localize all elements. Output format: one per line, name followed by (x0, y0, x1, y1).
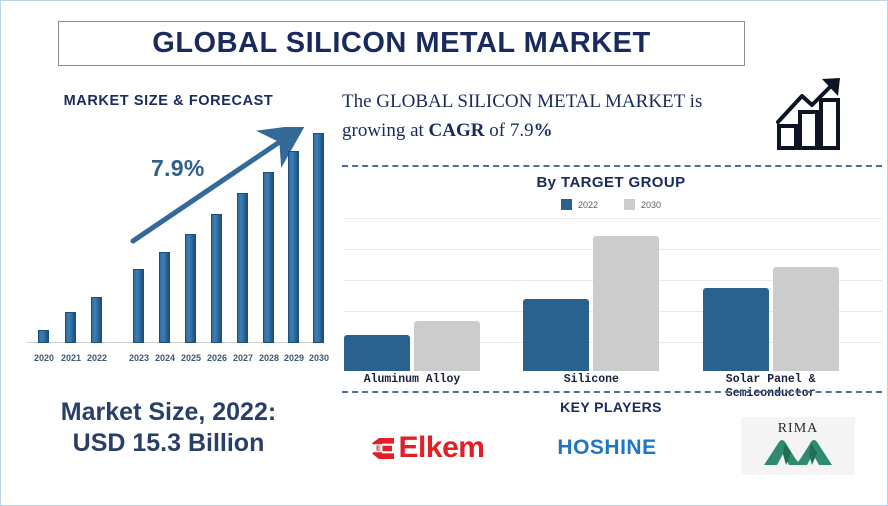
player-logo-hoshine[interactable]: HOSHINE (527, 417, 687, 479)
bar-2030 (593, 236, 659, 371)
title-box: GLOBAL SILICON METAL MARKET (58, 21, 745, 66)
forecast-bar-fill (288, 151, 299, 343)
bar-2022 (703, 288, 769, 371)
bar-2022 (344, 335, 410, 371)
target-group-1: Aluminum Alloy (344, 219, 523, 371)
rima-mountain-icon (761, 436, 835, 466)
player-logo-rima[interactable]: RIMA (741, 417, 855, 475)
cagr-keyword: CAGR (429, 120, 485, 141)
category-label: Aluminum Alloy (337, 373, 487, 387)
forecast-year-label: 2030 (302, 353, 336, 363)
infographic-page: GLOBAL SILICON METAL MARKET MARKET SIZE … (0, 0, 888, 506)
market-size-value: Market Size, 2022: USD 15.3 Billion (1, 397, 336, 459)
target-group-title: By TARGET GROUP (337, 174, 885, 191)
key-players-row: E Elkem HOSHINE RIMA (337, 417, 885, 487)
elkem-e-icon: E (372, 438, 395, 459)
forecast-bar-fill (313, 133, 324, 343)
key-players-title: KEY PLAYERS (337, 399, 885, 415)
left-panel: MARKET SIZE & FORECAST 7.9% 202020212022… (1, 79, 336, 499)
target-group-legend: 20222030 (337, 199, 885, 210)
market-size-forecast-chart: 7.9% 20202021202220232024202520262027202… (23, 127, 323, 365)
elkem-wordmark: Elkem (399, 433, 485, 463)
forecast-bar-fill (263, 172, 274, 343)
market-size-line-1: Market Size, 2022: (61, 398, 276, 426)
bar-2030 (414, 321, 480, 371)
forecast-bar-fill (237, 193, 248, 343)
forecast-bar-fill (133, 269, 144, 343)
category-label: Silicone (516, 373, 666, 387)
cagr-statement-part2: of (485, 120, 510, 141)
cagr-statement: The GLOBAL SILICON METAL MARKET is growi… (342, 87, 752, 145)
forecast-bar-fill (159, 252, 170, 343)
growth-bar-chart-icon (774, 74, 854, 154)
player-logo-elkem[interactable]: E Elkem (343, 417, 513, 479)
bar-2030 (773, 267, 839, 371)
divider-top (342, 165, 882, 167)
page-title: GLOBAL SILICON METAL MARKET (152, 27, 650, 60)
market-size-line-2: USD 15.3 Billion (73, 429, 265, 457)
target-group-3: Solar Panel &Semiconductor (703, 219, 882, 371)
forecast-year-label: 2022 (80, 353, 114, 363)
legend-label-2022: 2022 (578, 200, 598, 210)
forecast-bar-fill (65, 312, 76, 343)
legend-swatch-2030 (624, 199, 635, 210)
svg-text:E: E (376, 445, 381, 452)
legend-item-2030[interactable]: 2030 (624, 199, 661, 210)
category-label: Solar Panel &Semiconductor (696, 373, 846, 401)
target-group-2: Silicone (523, 219, 702, 371)
forecast-bar-fill (211, 214, 222, 343)
forecast-bar-fill (38, 330, 49, 343)
cagr-annotation: 7.9% (151, 155, 205, 182)
cagr-statement-percent: % (534, 120, 553, 141)
target-group-chart: Aluminum AlloySiliconeSolar Panel &Semic… (344, 219, 882, 371)
forecast-bar-fill (91, 297, 102, 343)
right-panel: The GLOBAL SILICON METAL MARKET is growi… (337, 79, 885, 503)
forecast-bar-fill (185, 234, 196, 343)
target-group-bars: Aluminum AlloySiliconeSolar Panel &Semic… (344, 219, 882, 371)
market-size-forecast-header: MARKET SIZE & FORECAST (1, 93, 336, 109)
hoshine-wordmark: HOSHINE (557, 436, 656, 460)
legend-label-2030: 2030 (641, 200, 661, 210)
legend-swatch-2022 (561, 199, 572, 210)
cagr-statement-value: 7.9 (510, 120, 534, 141)
legend-item-2022[interactable]: 2022 (561, 199, 598, 210)
divider-middle (342, 391, 882, 393)
bar-2022 (523, 299, 589, 371)
rima-wordmark: RIMA (761, 422, 835, 436)
